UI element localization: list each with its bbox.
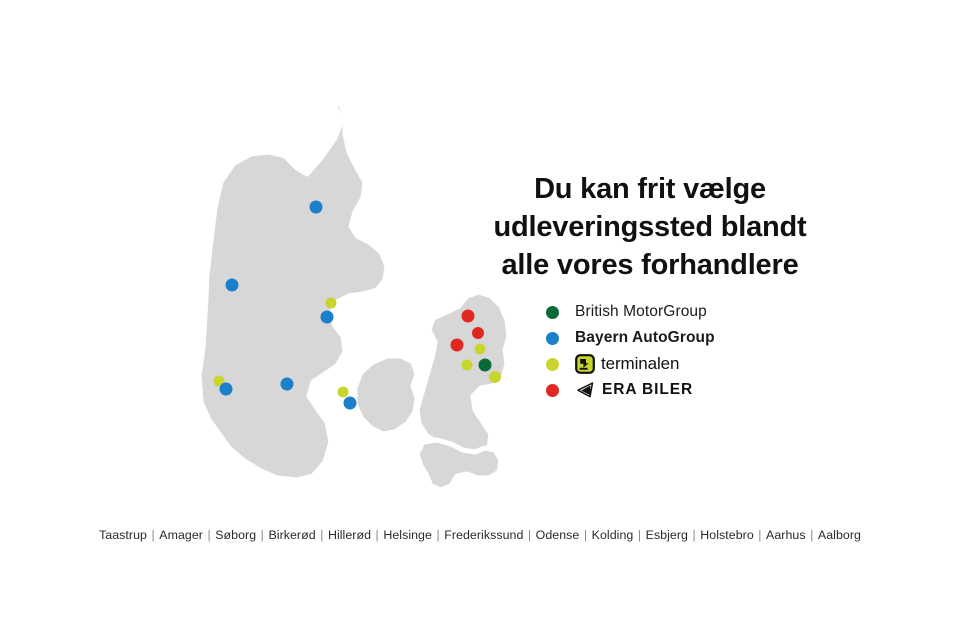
era-biler-logo-icon: [575, 381, 597, 399]
city-name: Søborg: [215, 528, 256, 542]
legend-item-bayern-autogroup[interactable]: Bayern AutoGroup: [546, 325, 866, 351]
city-name: Helsinge: [383, 528, 432, 542]
city-name: Aarhus: [766, 528, 806, 542]
map-marker[interactable]: [220, 383, 233, 396]
legend-dot-terminalen: [546, 358, 559, 371]
terminalen-brand-lockup: terminalen: [575, 354, 679, 374]
legend-item-terminalen[interactable]: terminalen: [546, 351, 866, 377]
city-separator: |: [633, 528, 645, 542]
denmark-map: [185, 90, 525, 510]
headline-line-3: alle vores forhandlere: [450, 247, 850, 285]
map-marker[interactable]: [326, 298, 337, 309]
map-region-jutland: [199, 102, 387, 480]
map-marker[interactable]: [462, 360, 473, 371]
map-marker[interactable]: [451, 339, 464, 352]
city-separator: |: [754, 528, 766, 542]
map-marker[interactable]: [338, 387, 349, 398]
city-separator: |: [203, 528, 215, 542]
city-name: Amager: [159, 528, 203, 542]
city-separator: |: [523, 528, 535, 542]
city-name: Esbjerg: [646, 528, 688, 542]
map-marker[interactable]: [489, 371, 501, 383]
brand-legend: British MotorGroup Bayern AutoGroup term…: [546, 299, 866, 403]
city-separator: |: [147, 528, 159, 542]
map-marker[interactable]: [475, 344, 486, 355]
map-marker[interactable]: [479, 359, 492, 372]
city-name: Birkerød: [268, 528, 315, 542]
map-marker[interactable]: [344, 397, 357, 410]
city-separator: |: [806, 528, 818, 542]
era-biler-brand-lockup: ERA BILER: [575, 381, 693, 399]
city-name: Kolding: [592, 528, 634, 542]
city-name: Holstebro: [700, 528, 753, 542]
city-separator: |: [579, 528, 591, 542]
city-name: Aalborg: [818, 528, 861, 542]
legend-item-british-motorgroup[interactable]: British MotorGroup: [546, 299, 866, 325]
denmark-map-svg: [185, 90, 525, 510]
map-marker[interactable]: [462, 310, 475, 323]
headline-line-1: Du kan frit vælge: [450, 171, 850, 209]
city-name: Taastrup: [99, 528, 147, 542]
city-list: Taastrup|Amager|Søborg|Birkerød|Hillerød…: [0, 528, 960, 542]
era-biler-wordmark: ERA BILER: [602, 381, 693, 399]
map-marker[interactable]: [321, 311, 334, 324]
legend-label-bayern-autogroup: Bayern AutoGroup: [575, 329, 715, 347]
map-region-funen: [355, 356, 417, 434]
city-separator: |: [432, 528, 444, 542]
legend-label-british-motorgroup: British MotorGroup: [575, 303, 707, 321]
city-name: Odense: [536, 528, 580, 542]
city-separator: |: [371, 528, 383, 542]
map-marker[interactable]: [226, 279, 239, 292]
city-name: Frederikssund: [444, 528, 523, 542]
poster-canvas: Du kan frit vælge udleveringssted blandt…: [0, 0, 960, 640]
map-marker[interactable]: [310, 201, 323, 214]
legend-item-era-biler[interactable]: ERA BILER: [546, 377, 866, 403]
map-region-lolland-falster: [417, 440, 501, 490]
legend-dot-bayern-autogroup: [546, 332, 559, 345]
legend-dot-era-biler: [546, 384, 559, 397]
terminalen-wordmark: terminalen: [601, 354, 679, 374]
terminalen-logo-icon: [575, 354, 595, 374]
legend-dot-british-motorgroup: [546, 306, 559, 319]
page-title: Du kan frit vælge udleveringssted blandt…: [450, 171, 850, 285]
map-marker[interactable]: [472, 327, 484, 339]
headline-line-2: udleveringssted blandt: [450, 209, 850, 247]
city-name: Hillerød: [328, 528, 371, 542]
city-separator: |: [688, 528, 700, 542]
map-marker[interactable]: [281, 378, 294, 391]
city-separator: |: [316, 528, 328, 542]
city-separator: |: [256, 528, 268, 542]
